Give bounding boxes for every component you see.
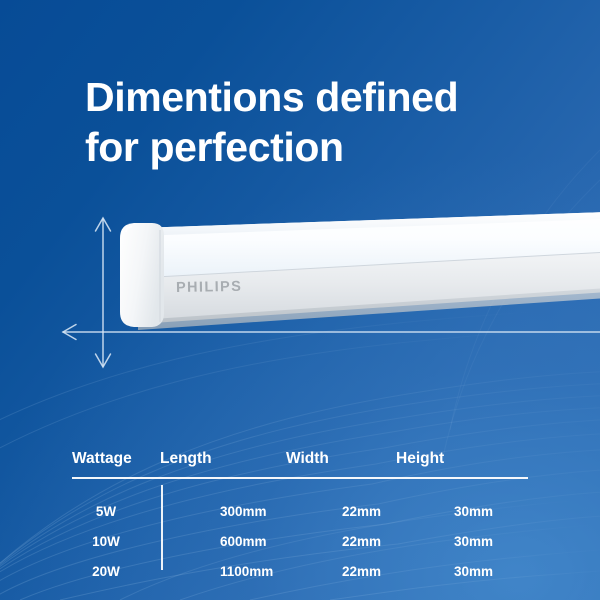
cell-width: 22mm [286,504,396,519]
cell-length: 1100mm [160,564,286,579]
table-row: 20W 1100mm 22mm 30mm [72,556,528,586]
cell-width: 22mm [286,564,396,579]
table-header-rule [72,477,528,479]
promo-banner: Dimentions defined for perfection [0,0,600,600]
column-header-length: Length [160,450,286,477]
led-batten-light-product [108,212,600,337]
page-title-line-1: Dimentions defined [85,74,458,120]
cell-width: 22mm [286,534,396,549]
table-header-row: Wattage Length Width Height [72,450,528,477]
cell-length: 600mm [160,534,286,549]
table-row: 5W 300mm 22mm 30mm [72,496,528,526]
height-arrow-head-bottom [96,354,111,367]
philips-wordmark: PHILIPS [176,279,242,296]
cell-height: 30mm [396,564,506,579]
cell-height: 30mm [396,504,506,519]
page-title-line-2: for perfection [85,122,555,172]
column-header-wattage: Wattage [72,450,160,477]
column-header-width: Width [286,450,396,477]
table-row: 10W 600mm 22mm 30mm [72,526,528,556]
length-arrow-head-left [63,325,76,340]
lamp-end-cap [120,223,164,327]
cell-wattage: 10W [72,534,160,549]
column-header-height: Height [396,450,506,477]
cell-wattage: 5W [72,504,160,519]
cell-length: 300mm [160,504,286,519]
page-title: Dimentions defined for perfection [85,72,555,172]
specification-table: Wattage Length Width Height 5W 300mm 22m… [72,450,528,586]
cell-height: 30mm [396,534,506,549]
cell-wattage: 20W [72,564,160,579]
